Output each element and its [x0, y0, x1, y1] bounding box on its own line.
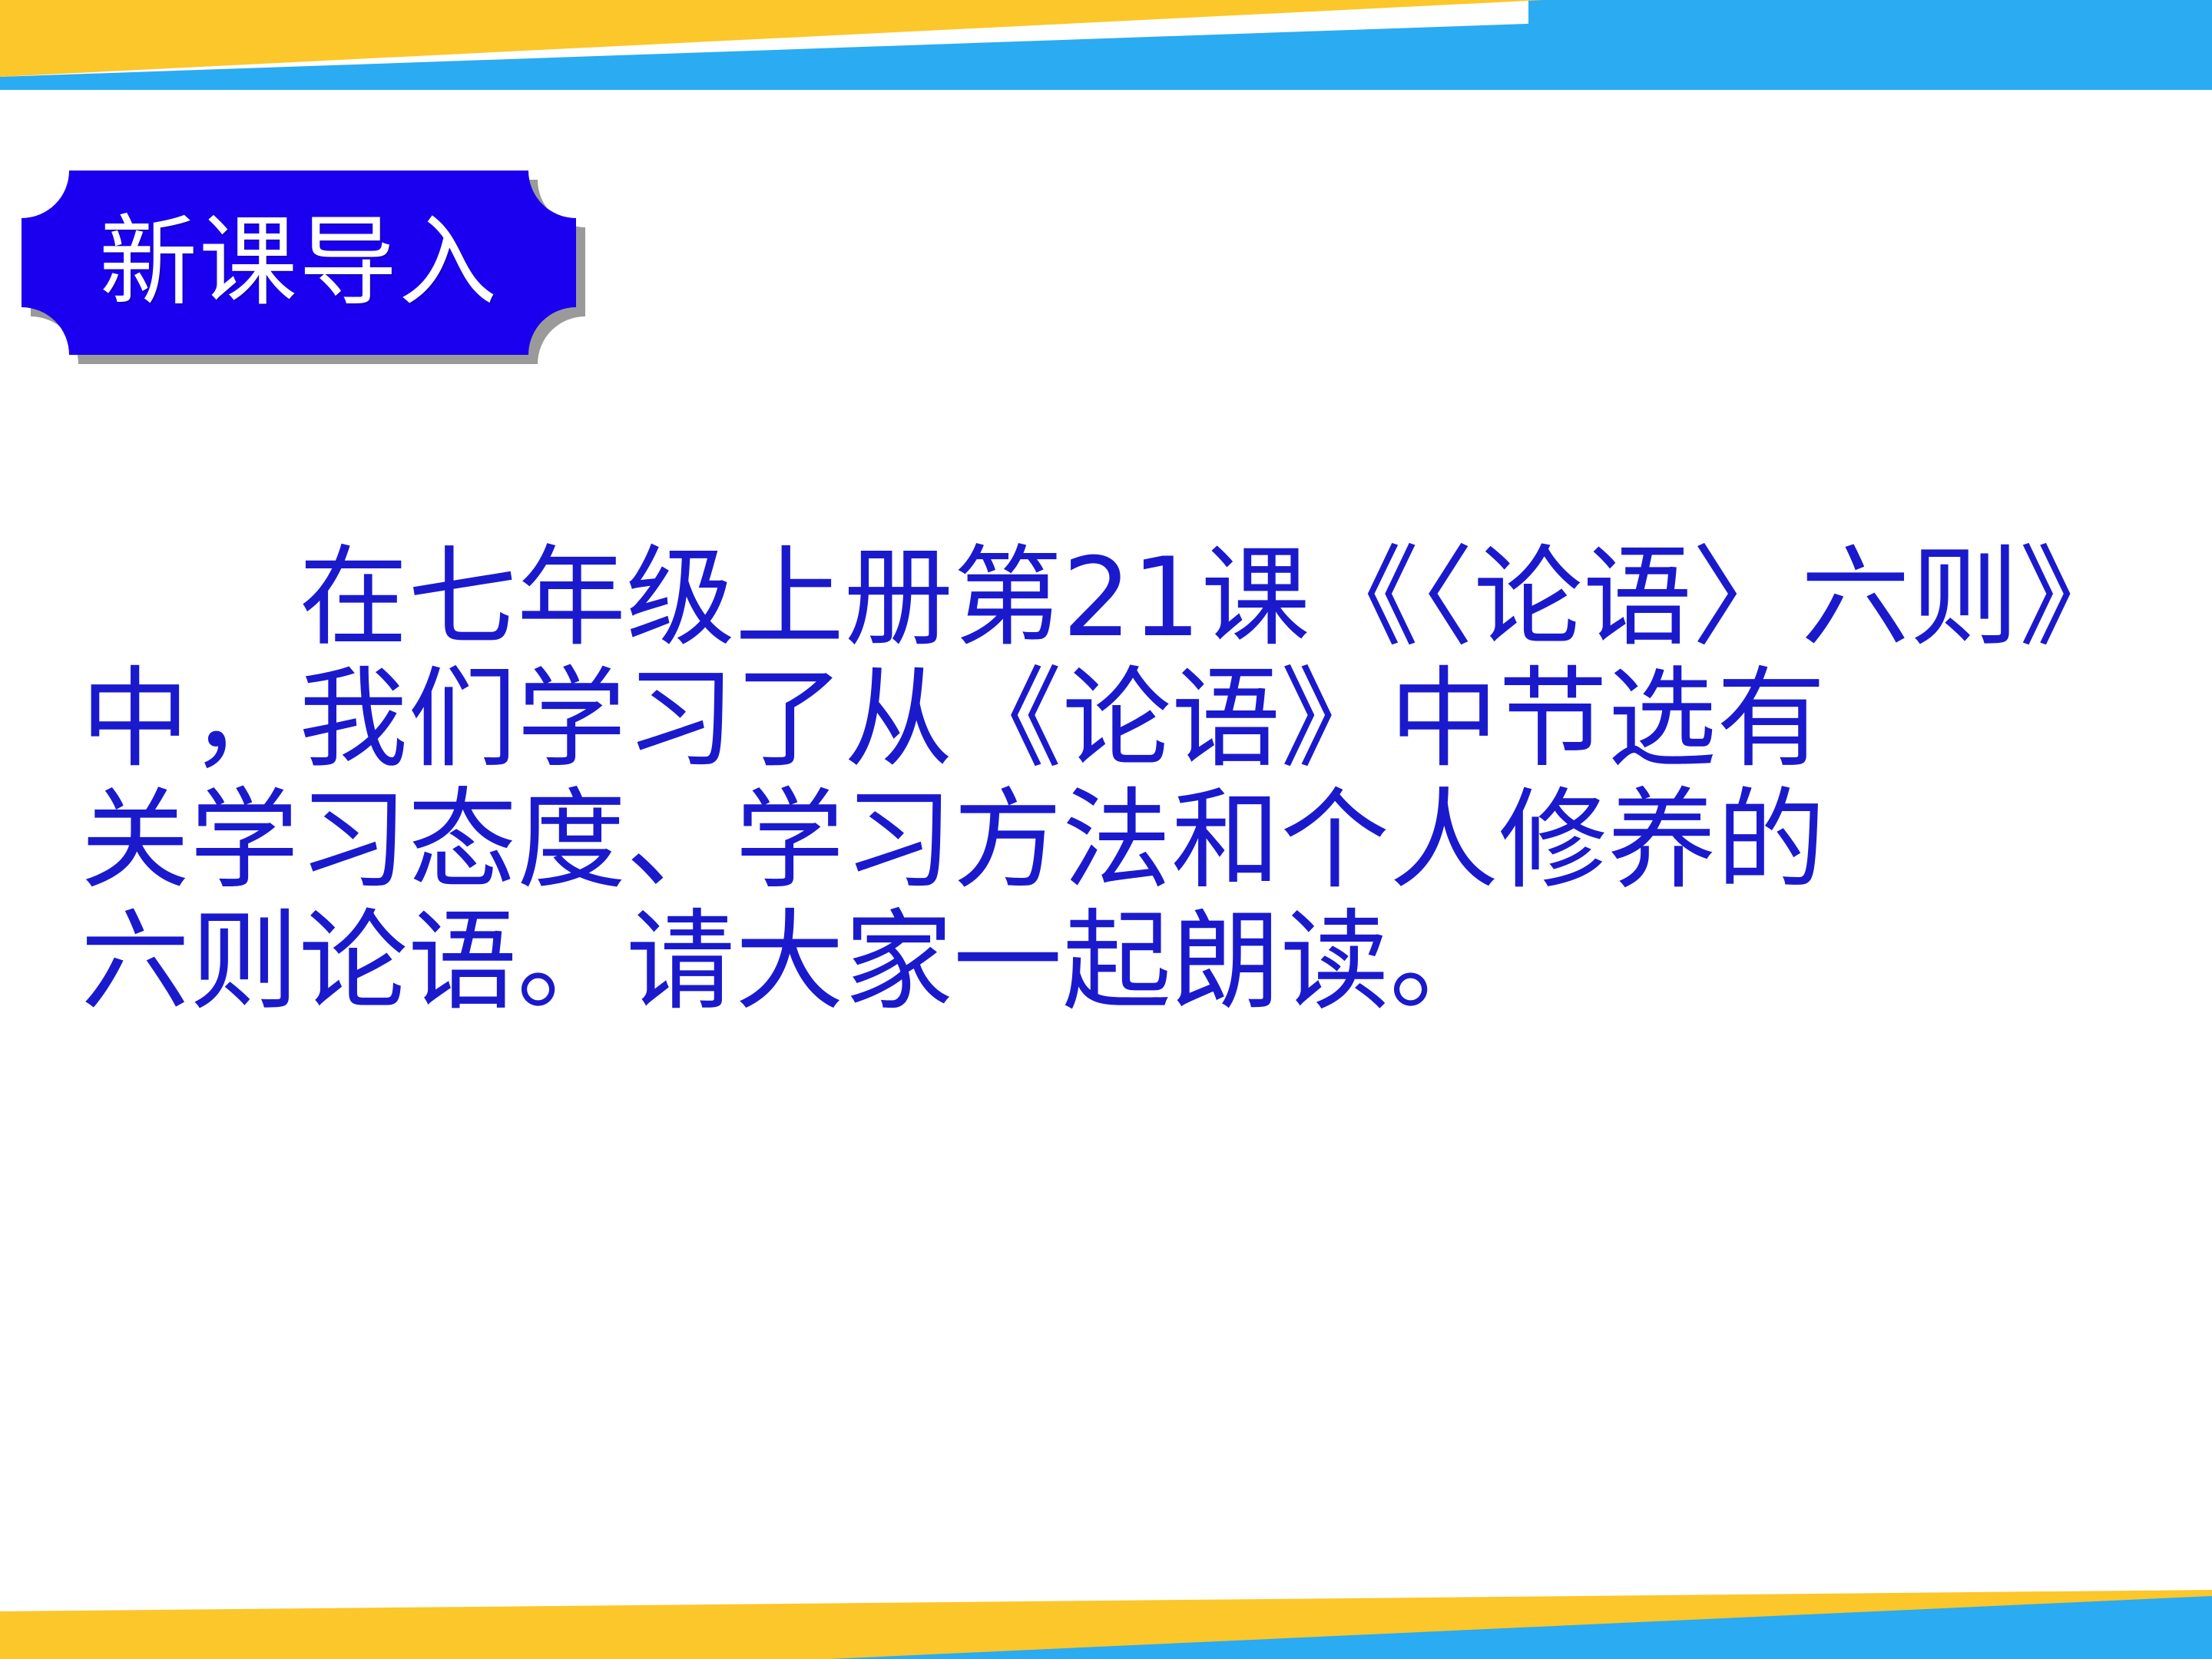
body-paragraph: 在七年级上册第21课《〈论语〉六则》 中，我们学习了从《论语》中节选有 关学习态… [81, 538, 2154, 1023]
top-banner-blue-shape [0, 0, 2212, 90]
body-line-3: 关学习态度、学习方法和个人修养的 [81, 780, 2154, 902]
top-banner-blue-fill-right [1528, 0, 2212, 90]
top-decoration-banner [0, 0, 2212, 96]
bottom-banner-yellow-shape [0, 1590, 2212, 1659]
body-line-4: 六则论语。请大家一起朗读。 [81, 902, 2154, 1023]
bottom-banner-blue-shape [829, 1596, 2212, 1659]
title-plaque-label: 新课导入 [22, 171, 576, 355]
body-line-1: 在七年级上册第21课《〈论语〉六则》 [81, 538, 2154, 659]
top-banner-shapes [0, 0, 2212, 96]
bottom-decoration-banner [0, 1590, 2212, 1659]
slide-canvas: 新课导入 在七年级上册第21课《〈论语〉六则》 中，我们学习了从《论语》中节选有… [0, 0, 2212, 1659]
top-banner-yellow-shape [0, 0, 1544, 77]
title-plaque: 新课导入 [22, 171, 605, 372]
bottom-banner-shapes [0, 1590, 2212, 1659]
body-line-2: 中，我们学习了从《论语》中节选有 [81, 659, 2154, 780]
